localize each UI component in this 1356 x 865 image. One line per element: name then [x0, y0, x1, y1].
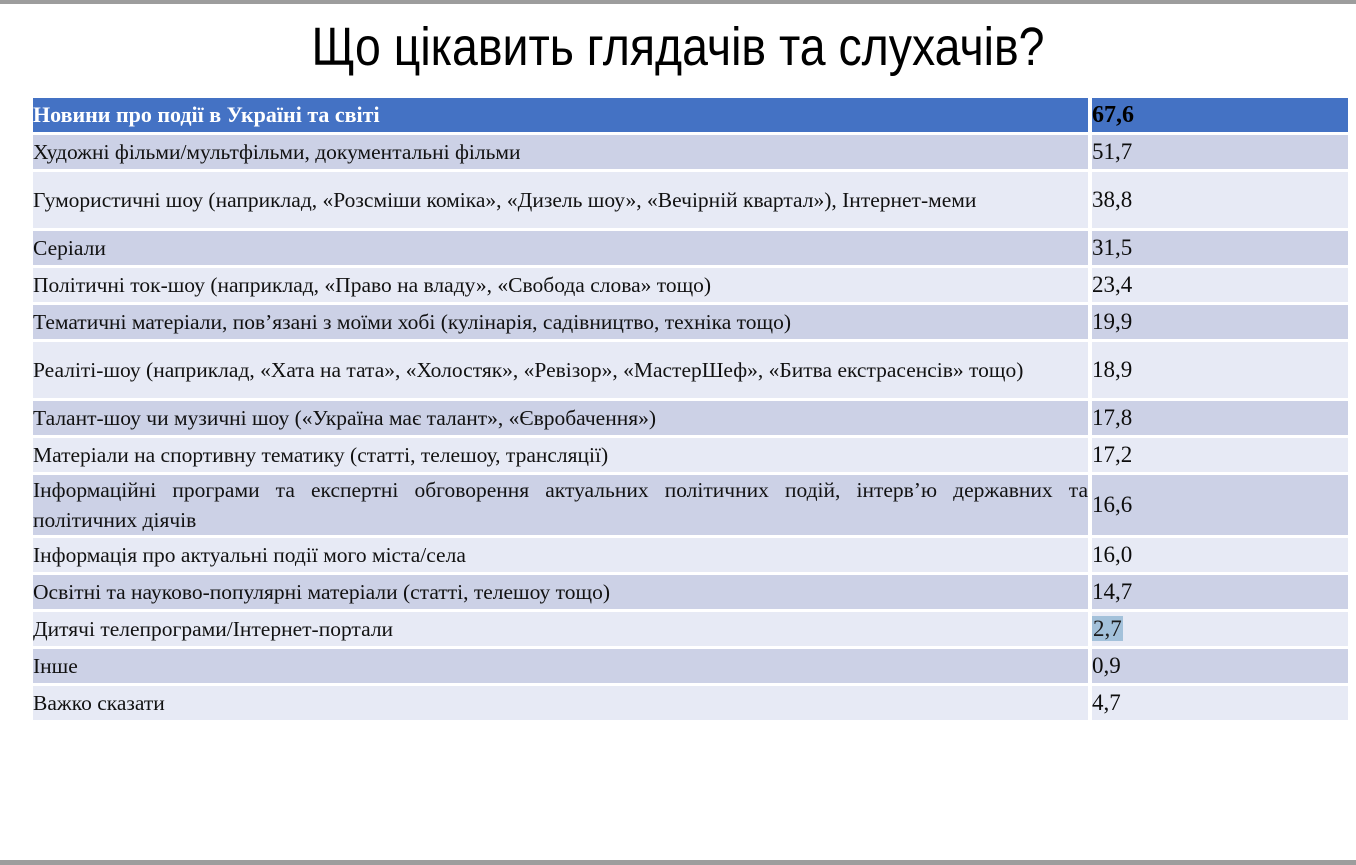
row-value-cell: 16,0 [1092, 538, 1348, 572]
row-value-cell: 67,6 [1092, 98, 1348, 132]
row-label-cell: Важко сказати [33, 686, 1088, 720]
table-row[interactable]: Матеріали на спортивну тематику (статті,… [33, 438, 1348, 472]
row-value-cell: 2,7 [1092, 612, 1348, 646]
window-top-chrome-bar [0, 0, 1356, 4]
row-value-cell: 17,2 [1092, 438, 1348, 472]
table-row[interactable]: Художні фільми/мультфільми, документальн… [33, 135, 1348, 169]
row-value-cell: 38,8 [1092, 172, 1348, 228]
row-label-cell: Дитячі телепрограми/Інтернет-портали [33, 612, 1088, 646]
row-label-cell: Матеріали на спортивну тематику (статті,… [33, 438, 1088, 472]
table-row[interactable]: Тематичні матеріали, пов’язані з моїми х… [33, 305, 1348, 339]
row-label-cell: Політичні ток-шоу (наприклад, «Право на … [33, 268, 1088, 302]
row-value-cell: 18,9 [1092, 342, 1348, 398]
row-label-cell: Реаліті-шоу (наприклад, «Хата на тата», … [33, 342, 1088, 398]
table-row[interactable]: Важко сказати4,7 [33, 686, 1348, 720]
row-label-cell: Гумористичні шоу (наприклад, «Розсміши к… [33, 172, 1088, 228]
page-title: Що цікавить глядачів та слухачів? [95, 14, 1261, 80]
table-row[interactable]: Політичні ток-шоу (наприклад, «Право на … [33, 268, 1348, 302]
row-label-cell: Художні фільми/мультфільми, документальн… [33, 135, 1088, 169]
table-row[interactable]: Інформаційні програми та експертні обгов… [33, 475, 1348, 535]
slide-canvas: Що цікавить глядачів та слухачів? Новини… [0, 0, 1356, 865]
row-label-cell: Інформаційні програми та експертні обгов… [33, 475, 1088, 535]
row-label-cell: Тематичні матеріали, пов’язані з моїми х… [33, 305, 1088, 339]
row-value-cell: 19,9 [1092, 305, 1348, 339]
row-label-cell: Освітні та науково-популярні матеріали (… [33, 575, 1088, 609]
row-value-cell: 31,5 [1092, 231, 1348, 265]
row-label-cell: Інформація про актуальні події мого міст… [33, 538, 1088, 572]
selected-value-text: 2,7 [1092, 616, 1123, 641]
row-value-cell: 51,7 [1092, 135, 1348, 169]
row-value-cell: 14,7 [1092, 575, 1348, 609]
table-row[interactable]: Талант-шоу чи музичні шоу («Україна має … [33, 401, 1348, 435]
table-row[interactable]: Гумористичні шоу (наприклад, «Розсміши к… [33, 172, 1348, 228]
row-value-cell: 23,4 [1092, 268, 1348, 302]
table-row[interactable]: Інше0,9 [33, 649, 1348, 683]
row-value-cell: 17,8 [1092, 401, 1348, 435]
table-row[interactable]: Дитячі телепрограми/Інтернет-портали2,7 [33, 612, 1348, 646]
row-value-cell: 16,6 [1092, 475, 1348, 535]
table-row[interactable]: Інформація про актуальні події мого міст… [33, 538, 1348, 572]
row-label-cell: Інше [33, 649, 1088, 683]
table-row[interactable]: Серіали31,5 [33, 231, 1348, 265]
results-table-container: Новини про події в Україні та світі67,6Х… [33, 95, 1348, 723]
table-header-row[interactable]: Новини про події в Україні та світі67,6 [33, 98, 1348, 132]
table-row[interactable]: Освітні та науково-популярні матеріали (… [33, 575, 1348, 609]
row-label-cell: Талант-шоу чи музичні шоу («Україна має … [33, 401, 1088, 435]
row-label-cell: Серіали [33, 231, 1088, 265]
row-value-cell: 0,9 [1092, 649, 1348, 683]
row-label-cell: Новини про події в Україні та світі [33, 98, 1088, 132]
results-table-body: Новини про події в Україні та світі67,6Х… [33, 98, 1348, 720]
table-row[interactable]: Реаліті-шоу (наприклад, «Хата на тата», … [33, 342, 1348, 398]
row-value-cell: 4,7 [1092, 686, 1348, 720]
window-bottom-chrome-bar [0, 860, 1356, 865]
results-table: Новини про події в Україні та світі67,6Х… [33, 95, 1348, 723]
